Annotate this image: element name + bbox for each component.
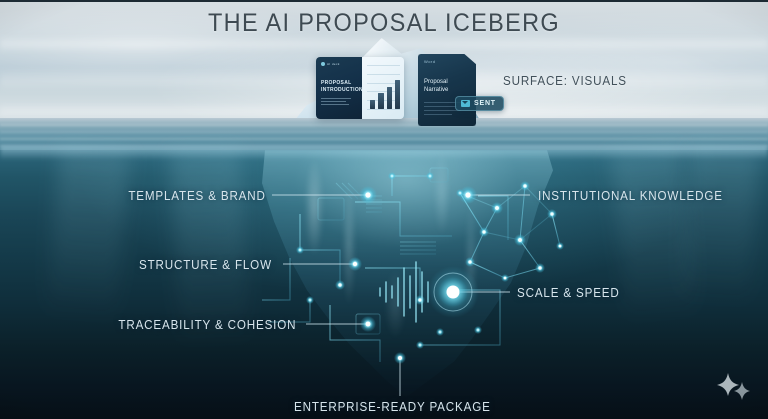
bar-chart-bars xyxy=(370,79,400,109)
deck-title: PROPOSAL INTRODUCTION xyxy=(321,80,357,94)
deck-brand-row: AI deck xyxy=(321,62,357,66)
label-institutional-knowledge: INSTITUTIONAL KNOWLEDGE xyxy=(538,189,723,203)
sent-status-badge[interactable]: SENT xyxy=(455,96,504,111)
light-ray xyxy=(678,148,760,332)
page-title: THE AI PROPOSAL ICEBERG xyxy=(23,9,745,38)
envelope-icon xyxy=(461,100,470,107)
deck-body-lines xyxy=(321,98,357,105)
label-surface-visuals: SURFACE: VISUALS xyxy=(503,74,627,88)
word-app-label: Word xyxy=(424,59,470,64)
wave-line xyxy=(0,124,768,126)
proposal-deck-card[interactable]: AI deck PROPOSAL INTRODUCTION xyxy=(316,57,404,119)
label-templates-brand: TEMPLATES & BRAND xyxy=(128,189,265,203)
label-traceability-cohesion: TRACEABILITY & COHESION xyxy=(118,318,296,332)
top-border-line xyxy=(0,0,768,2)
wave-line xyxy=(0,138,768,140)
wave-line xyxy=(0,131,768,133)
label-structure-flow: STRUCTURE & FLOW xyxy=(139,258,272,272)
label-enterprise-ready-package: ENTERPRISE-READY PACKAGE xyxy=(294,400,491,414)
iceberg-infographic: THE AI PROPOSAL ICEBERG AI deck PROPOSAL… xyxy=(0,0,768,419)
word-doc-title: Proposal Narrative xyxy=(424,78,470,94)
label-scale-speed: SCALE & SPEED xyxy=(517,286,620,300)
proposal-narrative-card[interactable]: Word Proposal Narrative xyxy=(418,54,476,126)
deck-cover-panel: AI deck PROPOSAL INTRODUCTION xyxy=(316,57,362,119)
ai-sparkle-icon xyxy=(714,371,754,405)
brand-dot-icon xyxy=(321,62,325,66)
deck-chart-panel xyxy=(362,57,404,119)
deck-brand-label: AI deck xyxy=(327,62,340,66)
sent-badge-label: SENT xyxy=(474,100,496,107)
